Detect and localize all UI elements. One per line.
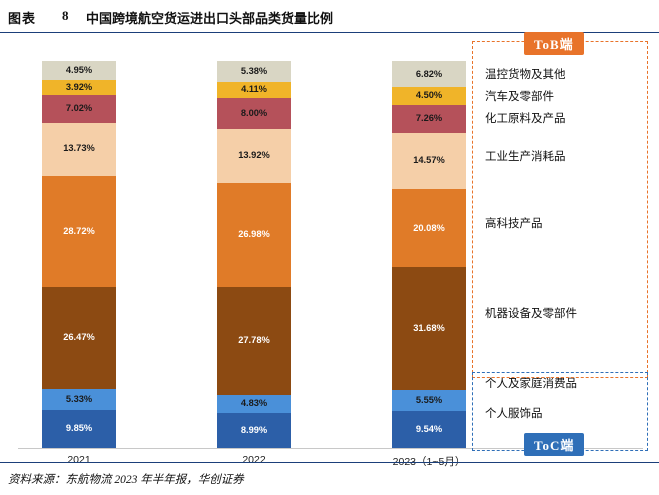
bar-segment-value: 9.85% [66, 424, 92, 433]
bar-segment-value: 5.55% [416, 396, 442, 405]
figure-title: 中国跨境航空货运进出口头部品类货量比例 [86, 8, 333, 27]
bar-segment: 9.85% [42, 410, 116, 448]
bar-segment-value: 7.02% [66, 104, 92, 113]
bar-segment: 31.68% [392, 267, 466, 390]
bar-segment-value: 4.83% [241, 399, 267, 408]
bar-segment: 7.26% [392, 105, 466, 133]
bar-segment-value: 5.33% [66, 395, 92, 404]
bar-segment: 27.78% [217, 287, 291, 395]
bar-segment-value: 26.98% [238, 230, 270, 239]
bar-segment-value: 5.38% [241, 67, 267, 76]
bar-segment: 13.92% [217, 129, 291, 183]
figure-footer: 资料来源：东航物流 2023 年半年报，华创证券 [0, 462, 659, 495]
bar-segment-value: 9.54% [416, 425, 442, 434]
bar-segment-value: 26.47% [63, 333, 95, 342]
bar-segment: 6.82% [392, 61, 466, 87]
bar-segment-value: 4.95% [66, 66, 92, 75]
bar-segment-value: 8.00% [241, 109, 267, 118]
bar-segment: 5.38% [217, 61, 291, 82]
bar-segment: 8.00% [217, 98, 291, 129]
bar-segment-value: 3.92% [66, 83, 92, 92]
bar-segment-value: 13.92% [238, 151, 270, 160]
stacked-bar-2021: 9.85%5.33%26.47%28.72%13.73%7.02%3.92%4.… [42, 61, 116, 448]
bar-segment-value: 6.82% [416, 70, 442, 79]
stacked-bar-2023: 9.54%5.55%31.68%20.08%14.57%7.26%4.50%6.… [392, 61, 466, 448]
bar-segment-value: 20.08% [413, 224, 445, 233]
bar-segment: 26.98% [217, 183, 291, 287]
source-note: 资料来源：东航物流 2023 年半年报，华创证券 [8, 471, 244, 487]
bar-segment: 26.47% [42, 287, 116, 389]
bar-segment-value: 4.50% [416, 91, 442, 100]
bar-segment: 13.73% [42, 123, 116, 176]
bar-segment: 4.95% [42, 61, 116, 80]
bar-segment-value: 7.26% [416, 114, 442, 123]
bar-segment: 8.99% [217, 413, 291, 448]
tob-tag: ToB端 [524, 32, 584, 55]
bar-segment-value: 31.68% [413, 324, 445, 333]
bar-segment: 9.54% [392, 411, 466, 448]
toc-tag: ToC端 [524, 433, 584, 456]
stacked-bar-2022: 8.99%4.83%27.78%26.98%13.92%8.00%4.11%5.… [217, 61, 291, 448]
bar-segment: 5.55% [392, 390, 466, 411]
bar-segment-value: 28.72% [63, 227, 95, 236]
tob-group-box [472, 41, 648, 378]
bar-segment: 3.92% [42, 80, 116, 95]
bar-segment-value: 27.78% [238, 336, 270, 345]
bar-segment: 4.83% [217, 395, 291, 414]
bar-segment-value: 4.11% [241, 85, 267, 94]
bar-segment-value: 14.57% [413, 156, 445, 165]
chart-plot-area: 9.85%5.33%26.47%28.72%13.73%7.02%3.92%4.… [0, 33, 659, 462]
bar-segment: 14.57% [392, 133, 466, 189]
bar-segment: 4.11% [217, 82, 291, 98]
figure-number: 8 [62, 8, 69, 24]
bar-segment: 7.02% [42, 95, 116, 122]
bar-segment: 4.50% [392, 87, 466, 104]
figure-header: 图表 8 中国跨境航空货运进出口头部品类货量比例 [0, 0, 659, 33]
bar-segment-value: 13.73% [63, 144, 95, 153]
bar-segment: 5.33% [42, 389, 116, 410]
bar-segment-value: 8.99% [241, 426, 267, 435]
figure-badge: 图表 [8, 8, 36, 27]
bar-segment: 20.08% [392, 189, 466, 267]
bar-segment: 28.72% [42, 176, 116, 287]
